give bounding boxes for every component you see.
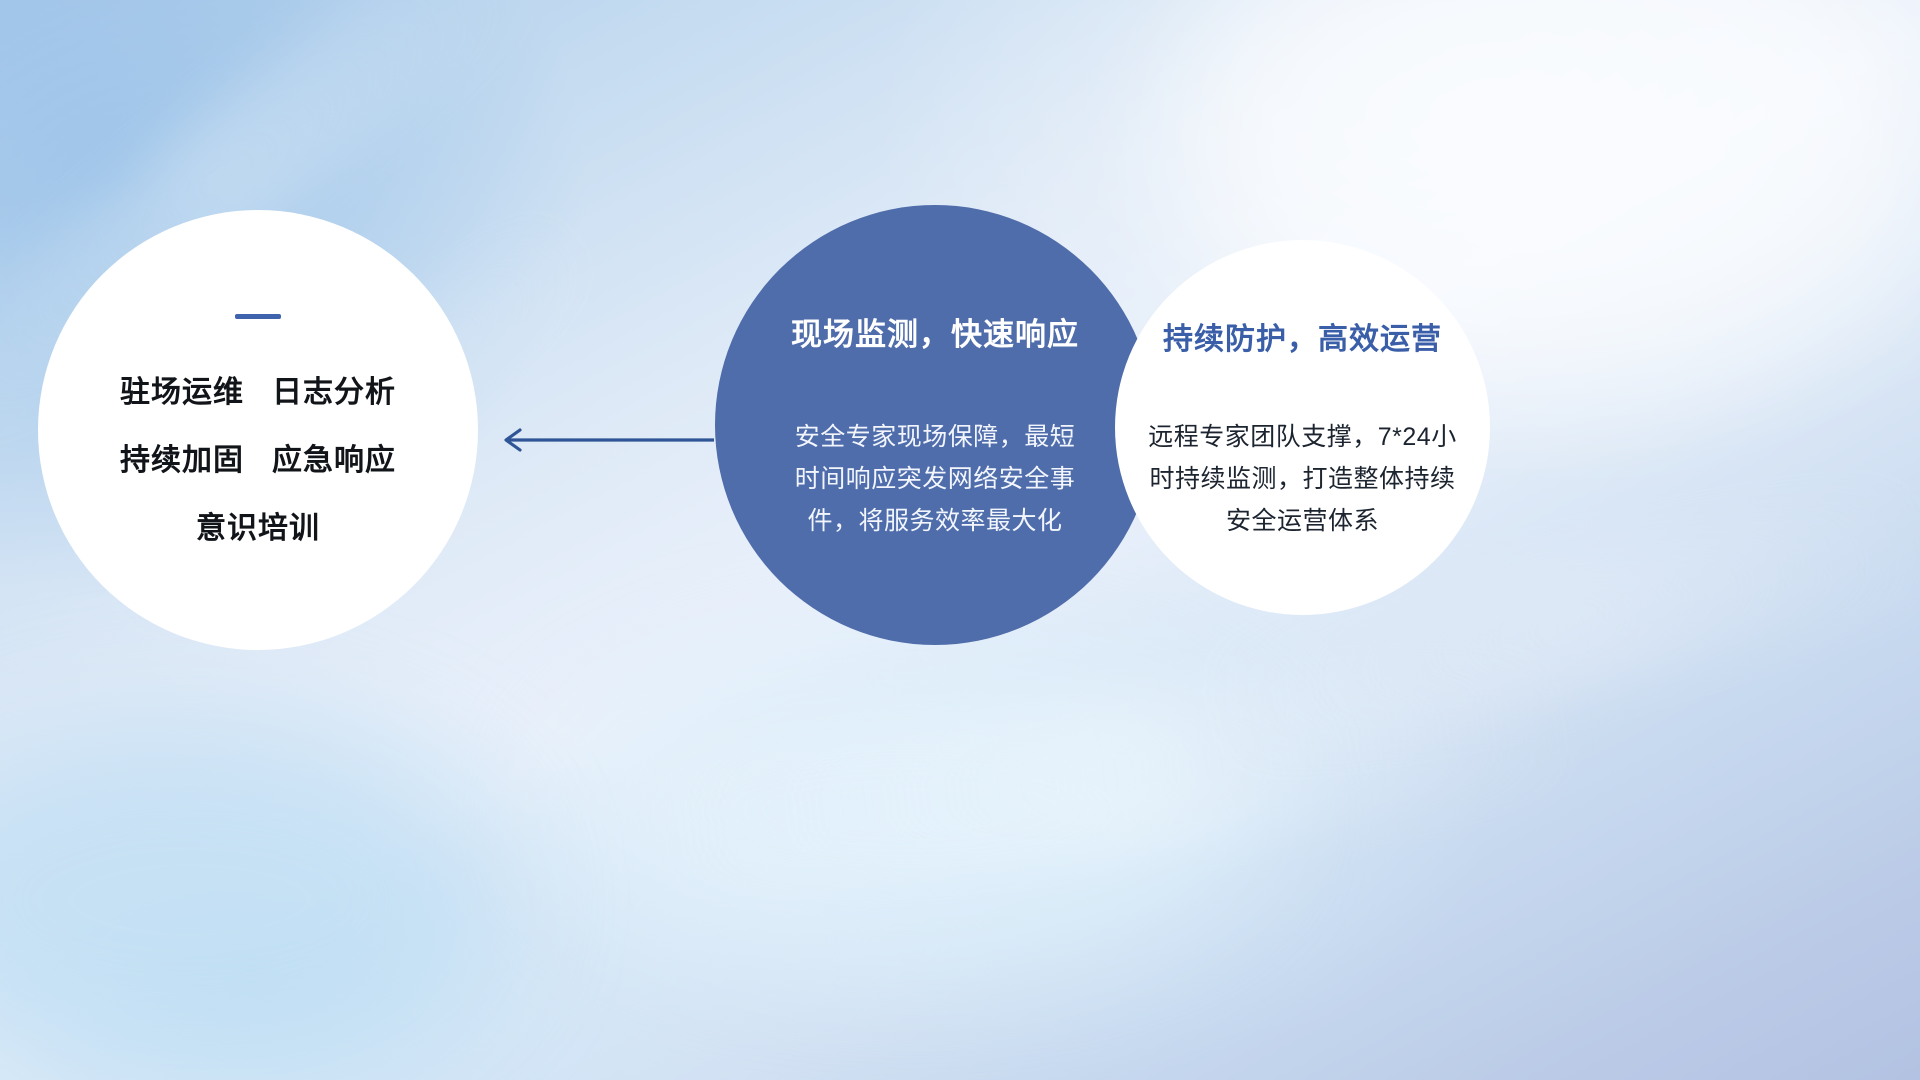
- list-item: 意识培训: [120, 503, 396, 547]
- background-light-streak: [615, 641, 1606, 909]
- capability-label: 持续加固: [120, 444, 244, 477]
- capabilities-list: 驻场运维日志分析 持续加固应急响应 意识培训: [120, 367, 396, 547]
- background-glow-bottom-left: [0, 720, 500, 1080]
- flow-arrow: [490, 424, 715, 456]
- card-body: 远程专家团队支撑，7*24小时持续监测，打造整体持续安全运营体系: [1138, 416, 1468, 542]
- capability-label: 日志分析: [272, 376, 396, 409]
- capability-label: 驻场运维: [120, 376, 244, 409]
- diagram-canvas: 驻场运维日志分析 持续加固应急响应 意识培训 现场监测，快速响应 安全专家现场保…: [0, 0, 1920, 1080]
- card-body: 安全专家现场保障，最短时间响应突发网络安全事件，将服务效率最大化: [785, 416, 1085, 542]
- capability-label: 应急响应: [272, 444, 396, 477]
- onsite-monitoring-circle[interactable]: 现场监测，快速响应 安全专家现场保障，最短时间响应突发网络安全事件，将服务效率最…: [715, 205, 1155, 645]
- continuous-protection-circle[interactable]: 持续防护，高效运营 远程专家团队支撑，7*24小时持续监测，打造整体持续安全运营…: [1115, 240, 1490, 615]
- background-glow-bottom-center: [560, 660, 1260, 960]
- card-title: 现场监测，快速响应: [791, 309, 1079, 354]
- list-item: 持续加固应急响应: [120, 435, 396, 479]
- capabilities-circle[interactable]: 驻场运维日志分析 持续加固应急响应 意识培训: [38, 210, 478, 650]
- card-title: 持续防护，高效运营: [1163, 314, 1442, 358]
- capability-label: 意识培训: [196, 512, 320, 545]
- list-item: 驻场运维日志分析: [120, 367, 396, 411]
- dash-icon: [235, 314, 281, 319]
